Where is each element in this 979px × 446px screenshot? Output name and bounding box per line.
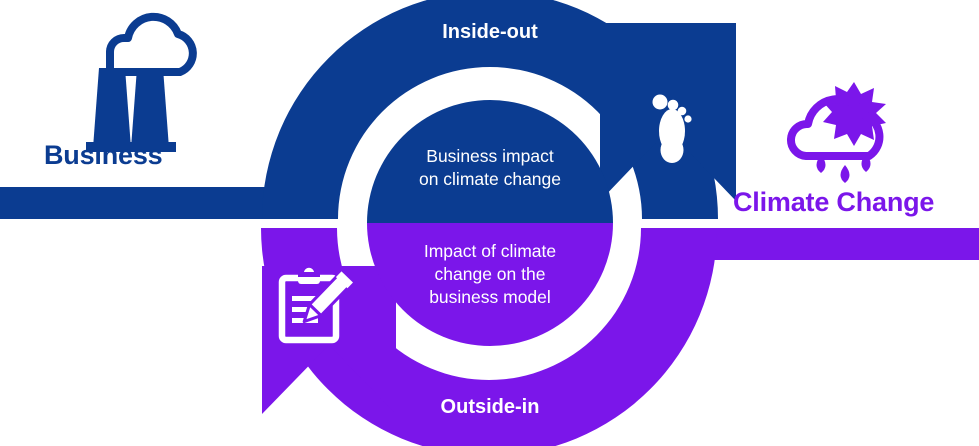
outside-in-flow: [261, 223, 979, 446]
outside-in-core-disc: [367, 223, 613, 346]
outside-in-tail: [679, 228, 979, 260]
inside-out-tail: [0, 187, 300, 219]
diagram-canvas: Business Climate Change Inside-out Outsi…: [0, 0, 979, 446]
cloud-rain-sun-icon: [791, 82, 886, 183]
cycle-diagram: [0, 0, 979, 446]
inside-out-core-disc: [367, 100, 613, 223]
factory-icon: [86, 17, 193, 152]
